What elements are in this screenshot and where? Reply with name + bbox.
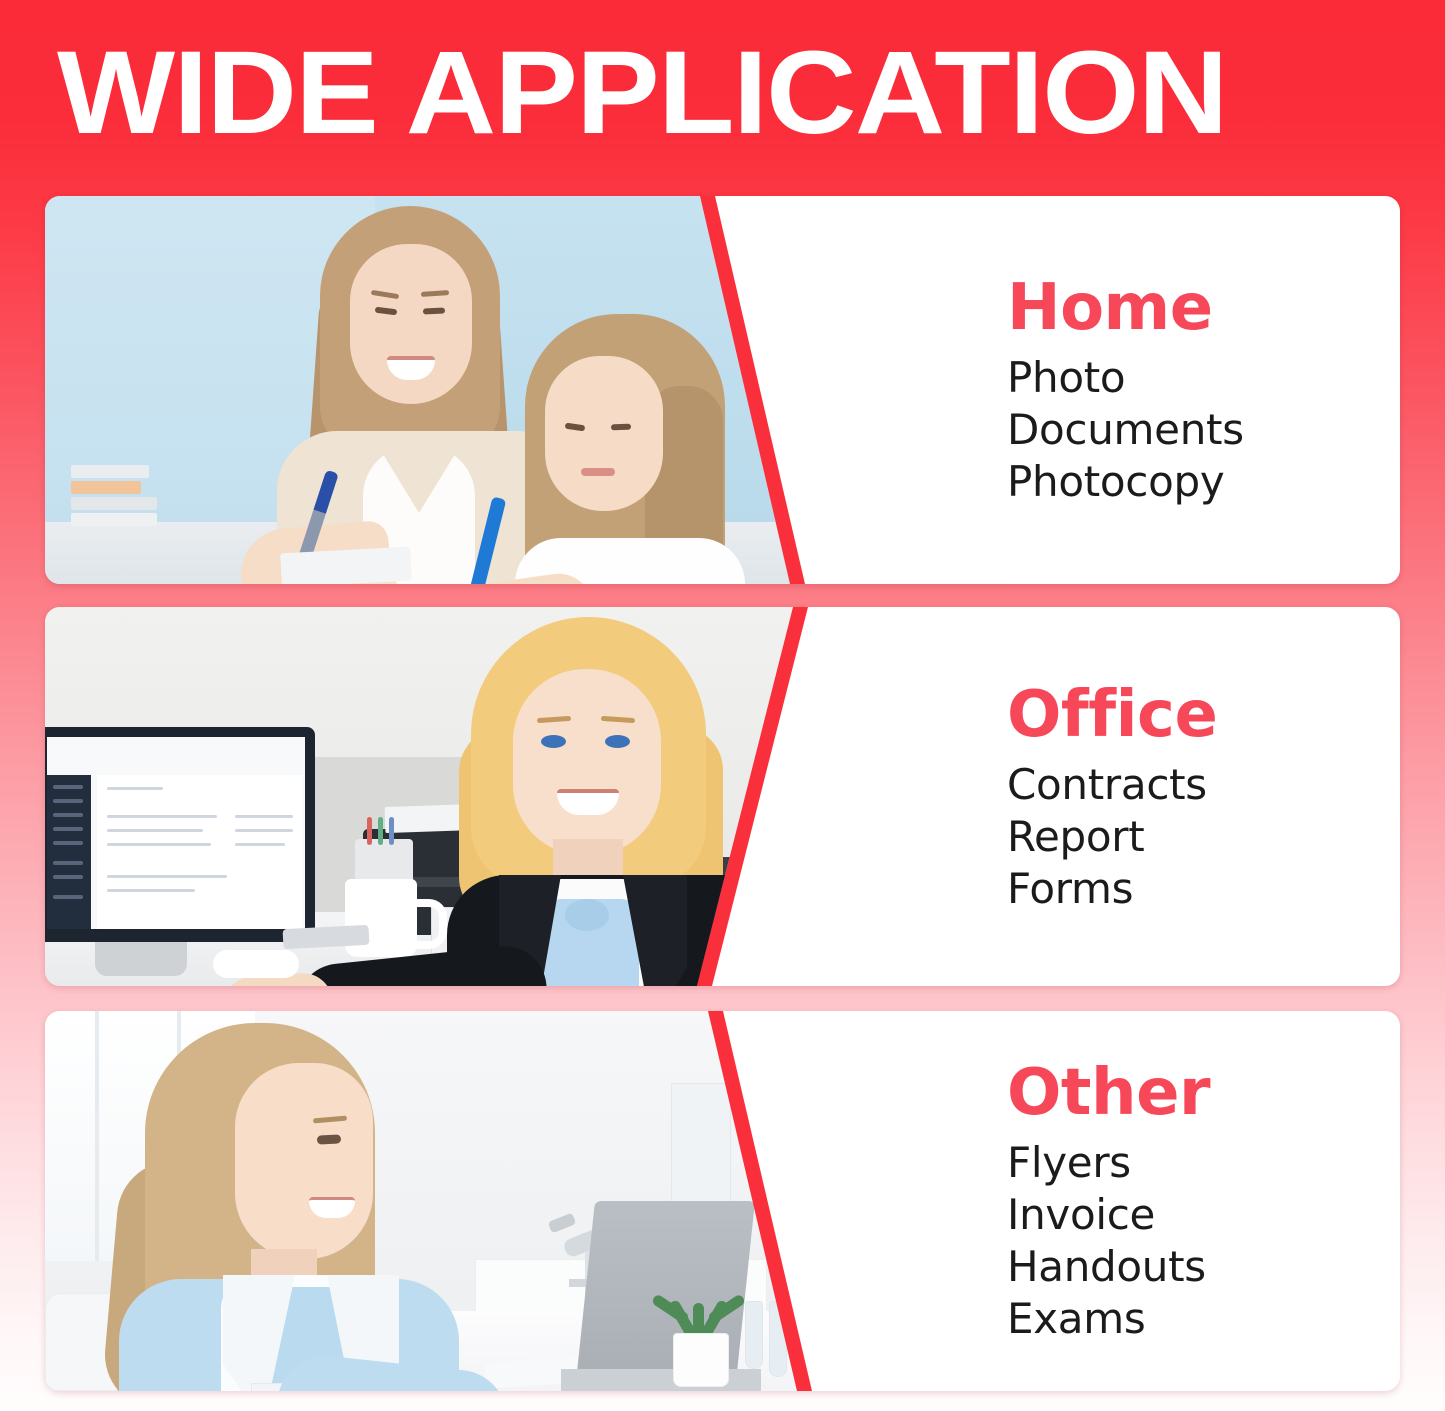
test-tubes	[745, 1301, 819, 1379]
office-scene-illustration	[45, 607, 845, 986]
office-item-list: Contracts Report Forms	[1007, 759, 1400, 915]
list-item: Handouts	[1007, 1241, 1400, 1293]
application-card-home: Home Photo Documents Photocopy	[45, 196, 1400, 584]
list-item: Flyers	[1007, 1137, 1400, 1189]
wide-application-infographic: WIDE APPLICATION	[0, 0, 1445, 1411]
screen-sidebar	[47, 775, 91, 929]
girl-face	[545, 356, 663, 511]
home-item-list: Photo Documents Photocopy	[1007, 352, 1400, 508]
list-item: Photo	[1007, 352, 1400, 404]
home-scene-illustration	[45, 196, 845, 584]
application-card-office: Office Contracts Report Forms	[45, 607, 1400, 986]
bow-knot	[565, 899, 609, 931]
pens	[367, 817, 403, 845]
list-item: Exams	[1007, 1293, 1400, 1345]
notebook-paper	[280, 547, 412, 584]
page-title: WIDE APPLICATION	[57, 34, 1227, 152]
list-item: Documents	[1007, 404, 1400, 456]
list-item: Photocopy	[1007, 456, 1400, 508]
list-item: Forms	[1007, 863, 1400, 915]
lab-technician-at-laptop-photo	[45, 1011, 845, 1391]
businesswoman-at-desk-photo	[45, 607, 845, 986]
woman-eye-right	[605, 735, 630, 748]
girl-mouth	[581, 468, 615, 476]
girl-eye-right	[611, 424, 631, 431]
other-item-list: Flyers Invoice Handouts Exams	[1007, 1137, 1400, 1345]
lab-scene-illustration	[45, 1011, 845, 1391]
chair-mesh	[705, 875, 815, 986]
list-item: Invoice	[1007, 1189, 1400, 1241]
potted-plant-leaves	[661, 1269, 741, 1343]
technician-face	[235, 1063, 373, 1259]
header-banner: WIDE APPLICATION	[0, 0, 1445, 180]
screen-document	[97, 775, 302, 929]
technician-eye	[317, 1134, 341, 1144]
woman-eye-left	[541, 735, 566, 748]
home-text-panel: Home Photo Documents Photocopy	[845, 196, 1400, 584]
other-text-panel: Other Flyers Invoice Handouts Exams	[845, 1011, 1400, 1391]
plant-pot	[673, 1333, 729, 1387]
book-stack	[71, 454, 157, 526]
window-divider-1	[95, 1011, 99, 1261]
card-title-office: Office	[1007, 679, 1400, 751]
mug-handle	[409, 899, 447, 949]
laptop-base	[561, 1369, 761, 1391]
office-text-panel: Office Contracts Report Forms	[845, 607, 1400, 986]
mother-eye-right	[423, 307, 445, 314]
computer-mouse	[213, 950, 299, 978]
application-card-other: Other Flyers Invoice Handouts Exams	[45, 1011, 1400, 1391]
list-item: Report	[1007, 811, 1400, 863]
card-title-home: Home	[1007, 272, 1400, 344]
woman-face	[513, 669, 661, 855]
mother-face	[350, 244, 472, 404]
mother-and-daughter-writing-photo	[45, 196, 845, 584]
list-item: Contracts	[1007, 759, 1400, 811]
card-title-other: Other	[1007, 1057, 1400, 1129]
monitor-stand	[95, 942, 187, 976]
